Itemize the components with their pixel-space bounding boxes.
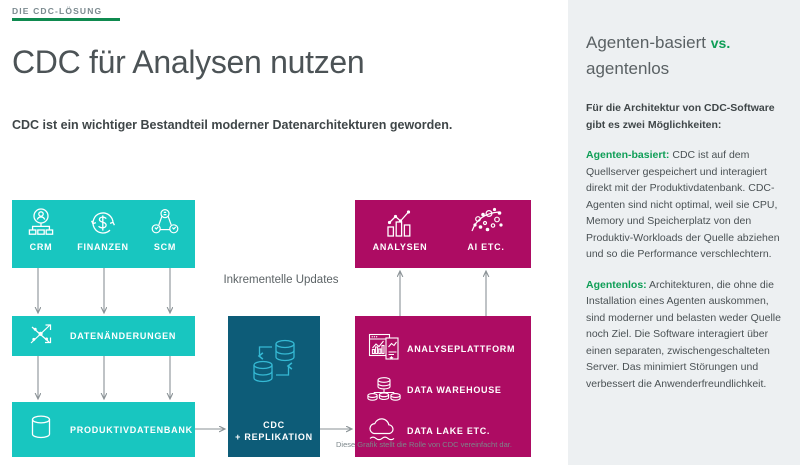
source-scm: SCM [136,206,194,252]
currency-cycle-icon [74,206,132,240]
page-title: CDC für Analysen nutzen [12,44,364,81]
sidebar-title-part1: Agenten-basiert [586,33,711,52]
sidebar-panel: Agenten-basiert vs. agentenlos Für die A… [568,0,800,465]
ai-neural-dots-icon [444,206,528,240]
source-finanzen: FINANZEN [74,206,132,252]
sidebar-paragraph-agent-based: Agenten-basiert: CDC ist auf dem Quellse… [586,147,782,263]
source-label: SCM [136,242,194,252]
production-database-box: PRODUKTIVDATENBANK [12,402,195,457]
platform-label: ANALYSEPLATTFORM [407,344,515,354]
term-agentless: Agentenlos: [586,279,647,291]
target-label: ANALYSEN [358,242,442,252]
term-agent-based: Agenten-basiert: [586,149,669,161]
source-label: FINANZEN [74,242,132,252]
org-chart-user-icon [12,206,70,240]
platform-row: DATA WAREHOUSE [361,369,531,410]
text-agent-based: CDC ist auf dem Quellserver gespeichert … [586,149,780,260]
target-label: AI ETC. [444,242,528,252]
text-agentless: Architekturen, die ohne die Installation… [586,279,781,390]
sidebar-title: Agenten-basiert vs. agentenlos [586,30,782,82]
sidebar-paragraph-agentless: Agentenlos: Architekturen, die ohne die … [586,277,782,393]
cdc-label-line1: CDC [228,419,320,431]
platform-label: DATA WAREHOUSE [407,385,502,395]
platforms-box: ANALYSEPLATTFORM [355,316,531,457]
cdc-architecture-diagram: CRM FINANZEN [0,185,568,465]
sources-box: CRM FINANZEN [12,200,195,268]
data-changes-label: DATENÄNDERUNGEN [70,331,176,341]
page-root: DIE CDC-LÖSUNG CDC für Analysen nutzen C… [0,0,800,465]
eyebrow-label: DIE CDC-LÖSUNG [12,6,102,16]
analytics-targets-box: ANALYSEN [355,200,531,268]
sidebar-title-part2: agentenlos [586,59,669,78]
source-label: CRM [12,242,70,252]
database-cylinder-icon [12,411,70,448]
cdc-replication-box: CDC + REPLIKATION [228,316,320,457]
stacked-databases-icon [361,372,407,407]
diagram-caption: Diese Grafik stellt die Rolle von CDC ve… [336,440,512,449]
data-changes-box: DATENÄNDERUNGEN [12,316,195,356]
lede-text: CDC ist ein wichtiger Bestandteil modern… [12,118,452,132]
main-content: DIE CDC-LÖSUNG CDC für Analysen nutzen C… [0,0,568,465]
target-ai: AI ETC. [444,206,528,252]
data-changes-nodes-icon [12,318,70,355]
target-analysen: ANALYSEN [358,206,442,252]
production-database-label: PRODUKTIVDATENBANK [70,425,193,435]
database-replication-icon [228,334,320,395]
platform-label: DATA LAKE ETC. [407,426,490,436]
cdc-label-line2: + REPLIKATION [228,431,320,443]
eyebrow-rule [12,18,120,21]
sidebar-title-vs: vs. [711,35,730,51]
source-crm: CRM [12,206,70,252]
sidebar-lead: Für die Architektur von CDC-Software gib… [586,100,782,133]
dashboard-screens-icon [361,331,407,366]
incremental-updates-label: Inkrementelle Updates [216,274,346,286]
supply-chain-cycle-icon [136,206,194,240]
platform-row: ANALYSEPLATTFORM [361,328,531,369]
bar-chart-trend-icon [358,206,442,240]
